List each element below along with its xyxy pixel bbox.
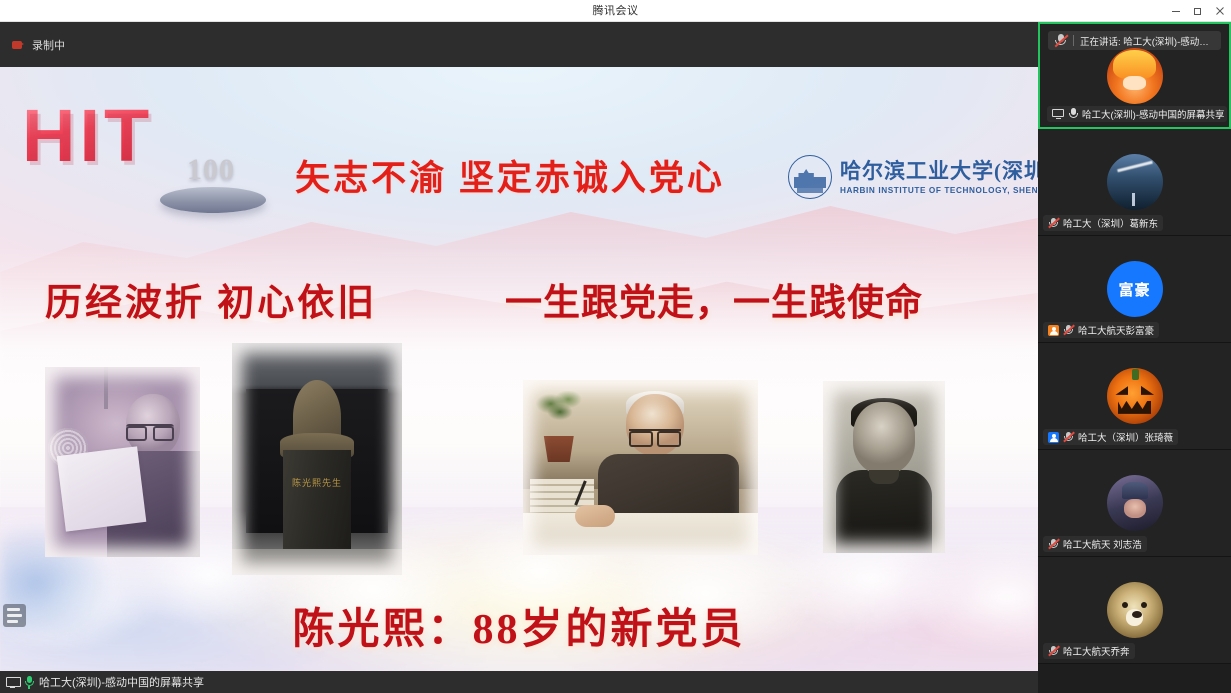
record-camera-icon (12, 39, 25, 51)
shared-screen-view[interactable]: HIT 100 矢志不渝 坚定赤诚入党心 哈尔滨工业大学(深圳) HARBIN … (0, 67, 1038, 671)
share-status-bar: 哈工大(深圳)-感动中国的屏幕共享 (0, 671, 1038, 693)
participant-name-5: 哈工大航天乔奔 (1063, 644, 1130, 658)
restore-button[interactable] (1187, 0, 1209, 22)
mic-muted-icon (1048, 645, 1059, 657)
host-badge-icon (1048, 432, 1059, 443)
close-button[interactable] (1209, 0, 1231, 22)
participant-name-4: 哈工大航天 刘志浩 (1063, 537, 1142, 551)
monitor-icon (6, 677, 19, 688)
mic-muted-icon (1054, 34, 1067, 48)
participant-tile-2[interactable]: 富豪 哈工大航天彭富豪 (1038, 236, 1231, 343)
screen-share-icon (1052, 109, 1064, 119)
mic-muted-icon (1063, 431, 1074, 443)
meeting-window: 腾讯会议 录制中 (0, 0, 1231, 693)
window-controls (1165, 0, 1231, 22)
participant-tile-5[interactable]: 哈工大航天乔奔 (1038, 557, 1231, 664)
pumpkin-avatar (1107, 368, 1163, 424)
speaking-banner-text: 正在讲话: 哈工大(深圳)-感动中... (1080, 34, 1215, 48)
initials-avatar: 富豪 (1107, 261, 1163, 317)
monument-inscription: 陈光熙先生 (283, 477, 351, 489)
anime-avatar (1107, 48, 1163, 104)
recording-bar: 录制中 (0, 22, 1038, 67)
participant-name-0: 哈工大(深圳)-感动中国的屏幕共享 (1082, 107, 1225, 121)
participant-nameplate-5: 哈工大航天乔奔 (1043, 643, 1135, 659)
microphone-icon (1068, 108, 1078, 120)
recording-label: 录制中 (32, 37, 65, 53)
photo-elder-reading (45, 367, 200, 557)
slide-caption: 陈光熙：88岁的新党员 (0, 595, 1038, 656)
participant-tile-0[interactable]: 正在讲话: 哈工大(深圳)-感动中... 哈工大(深圳)-感动中国的屏幕共享 (1038, 22, 1231, 129)
mic-muted-icon (1048, 538, 1059, 550)
university-crest-icon (788, 155, 832, 199)
university-name-en: HARBIN INSTITUTE OF TECHNOLOGY, SHENZHEN (840, 186, 1038, 195)
university-name-cn: 哈尔滨工业大学(深圳) (840, 159, 1038, 183)
participant-nameplate-4: 哈工大航天 刘志浩 (1043, 536, 1147, 552)
participant-nameplate-2: 哈工大航天彭富豪 (1043, 322, 1159, 338)
mic-muted-icon (1048, 217, 1059, 229)
share-status-text: 哈工大(深圳)-感动中国的屏幕共享 (39, 674, 204, 690)
photo-elder-writing (523, 380, 758, 555)
participant-tile-4[interactable]: 哈工大航天 刘志浩 (1038, 450, 1231, 557)
host-badge-icon (1048, 325, 1059, 336)
photo-bronze-bust: 陈光熙先生 (232, 343, 402, 575)
window-title: 腾讯会议 (0, 0, 1231, 22)
participant-nameplate-0: 哈工大(深圳)-感动中国的屏幕共享 (1047, 106, 1227, 122)
slide-subtitle-right: 一生跟党走，一生践使命 (505, 272, 923, 326)
mic-muted-icon (1063, 324, 1074, 336)
participant-tile-3[interactable]: 哈工大（深圳）张琦薇 (1038, 343, 1231, 450)
title-bar: 腾讯会议 (0, 0, 1231, 22)
list-menu-icon[interactable] (3, 604, 26, 627)
app-body: 录制中 HIT 100 矢志不渝 坚定赤诚入党心 哈尔滨工业大学(深圳) (0, 22, 1231, 693)
participant-name-2: 哈工大航天彭富豪 (1078, 323, 1154, 337)
university-logo: 哈尔滨工业大学(深圳) HARBIN INSTITUTE OF TECHNOLO… (788, 151, 1020, 203)
hit-anniversary-logo: HIT 100 (22, 99, 272, 209)
participant-strip[interactable]: 正在讲话: 哈工大(深圳)-感动中... 哈工大(深圳)-感动中国的屏幕共享 (1038, 22, 1231, 693)
minimize-button[interactable] (1165, 0, 1187, 22)
participant-name-1: 哈工大（深圳）葛新东 (1063, 216, 1158, 230)
hit-letters: HIT (22, 99, 153, 173)
participant-nameplate-1: 哈工大（深圳）葛新东 (1043, 215, 1163, 231)
participant-name-3: 哈工大（深圳）张琦薇 (1078, 430, 1173, 444)
hit-anniversary-number: 100 (172, 147, 250, 193)
slide-title: 矢志不渝 坚定赤诚入党心 (275, 150, 745, 201)
avatar-initials: 富豪 (1118, 279, 1150, 300)
slide-subtitle-left: 历经波折 初心依旧 (45, 272, 377, 326)
photo-young-portrait (823, 381, 945, 553)
participant-nameplate-3: 哈工大（深圳）张琦薇 (1043, 429, 1178, 445)
microphone-icon (24, 676, 34, 689)
participant-tile-1[interactable]: 哈工大（深圳）葛新东 (1038, 129, 1231, 236)
game-character-avatar (1107, 475, 1163, 531)
doge-avatar (1107, 582, 1163, 638)
night-sky-avatar (1107, 154, 1163, 210)
